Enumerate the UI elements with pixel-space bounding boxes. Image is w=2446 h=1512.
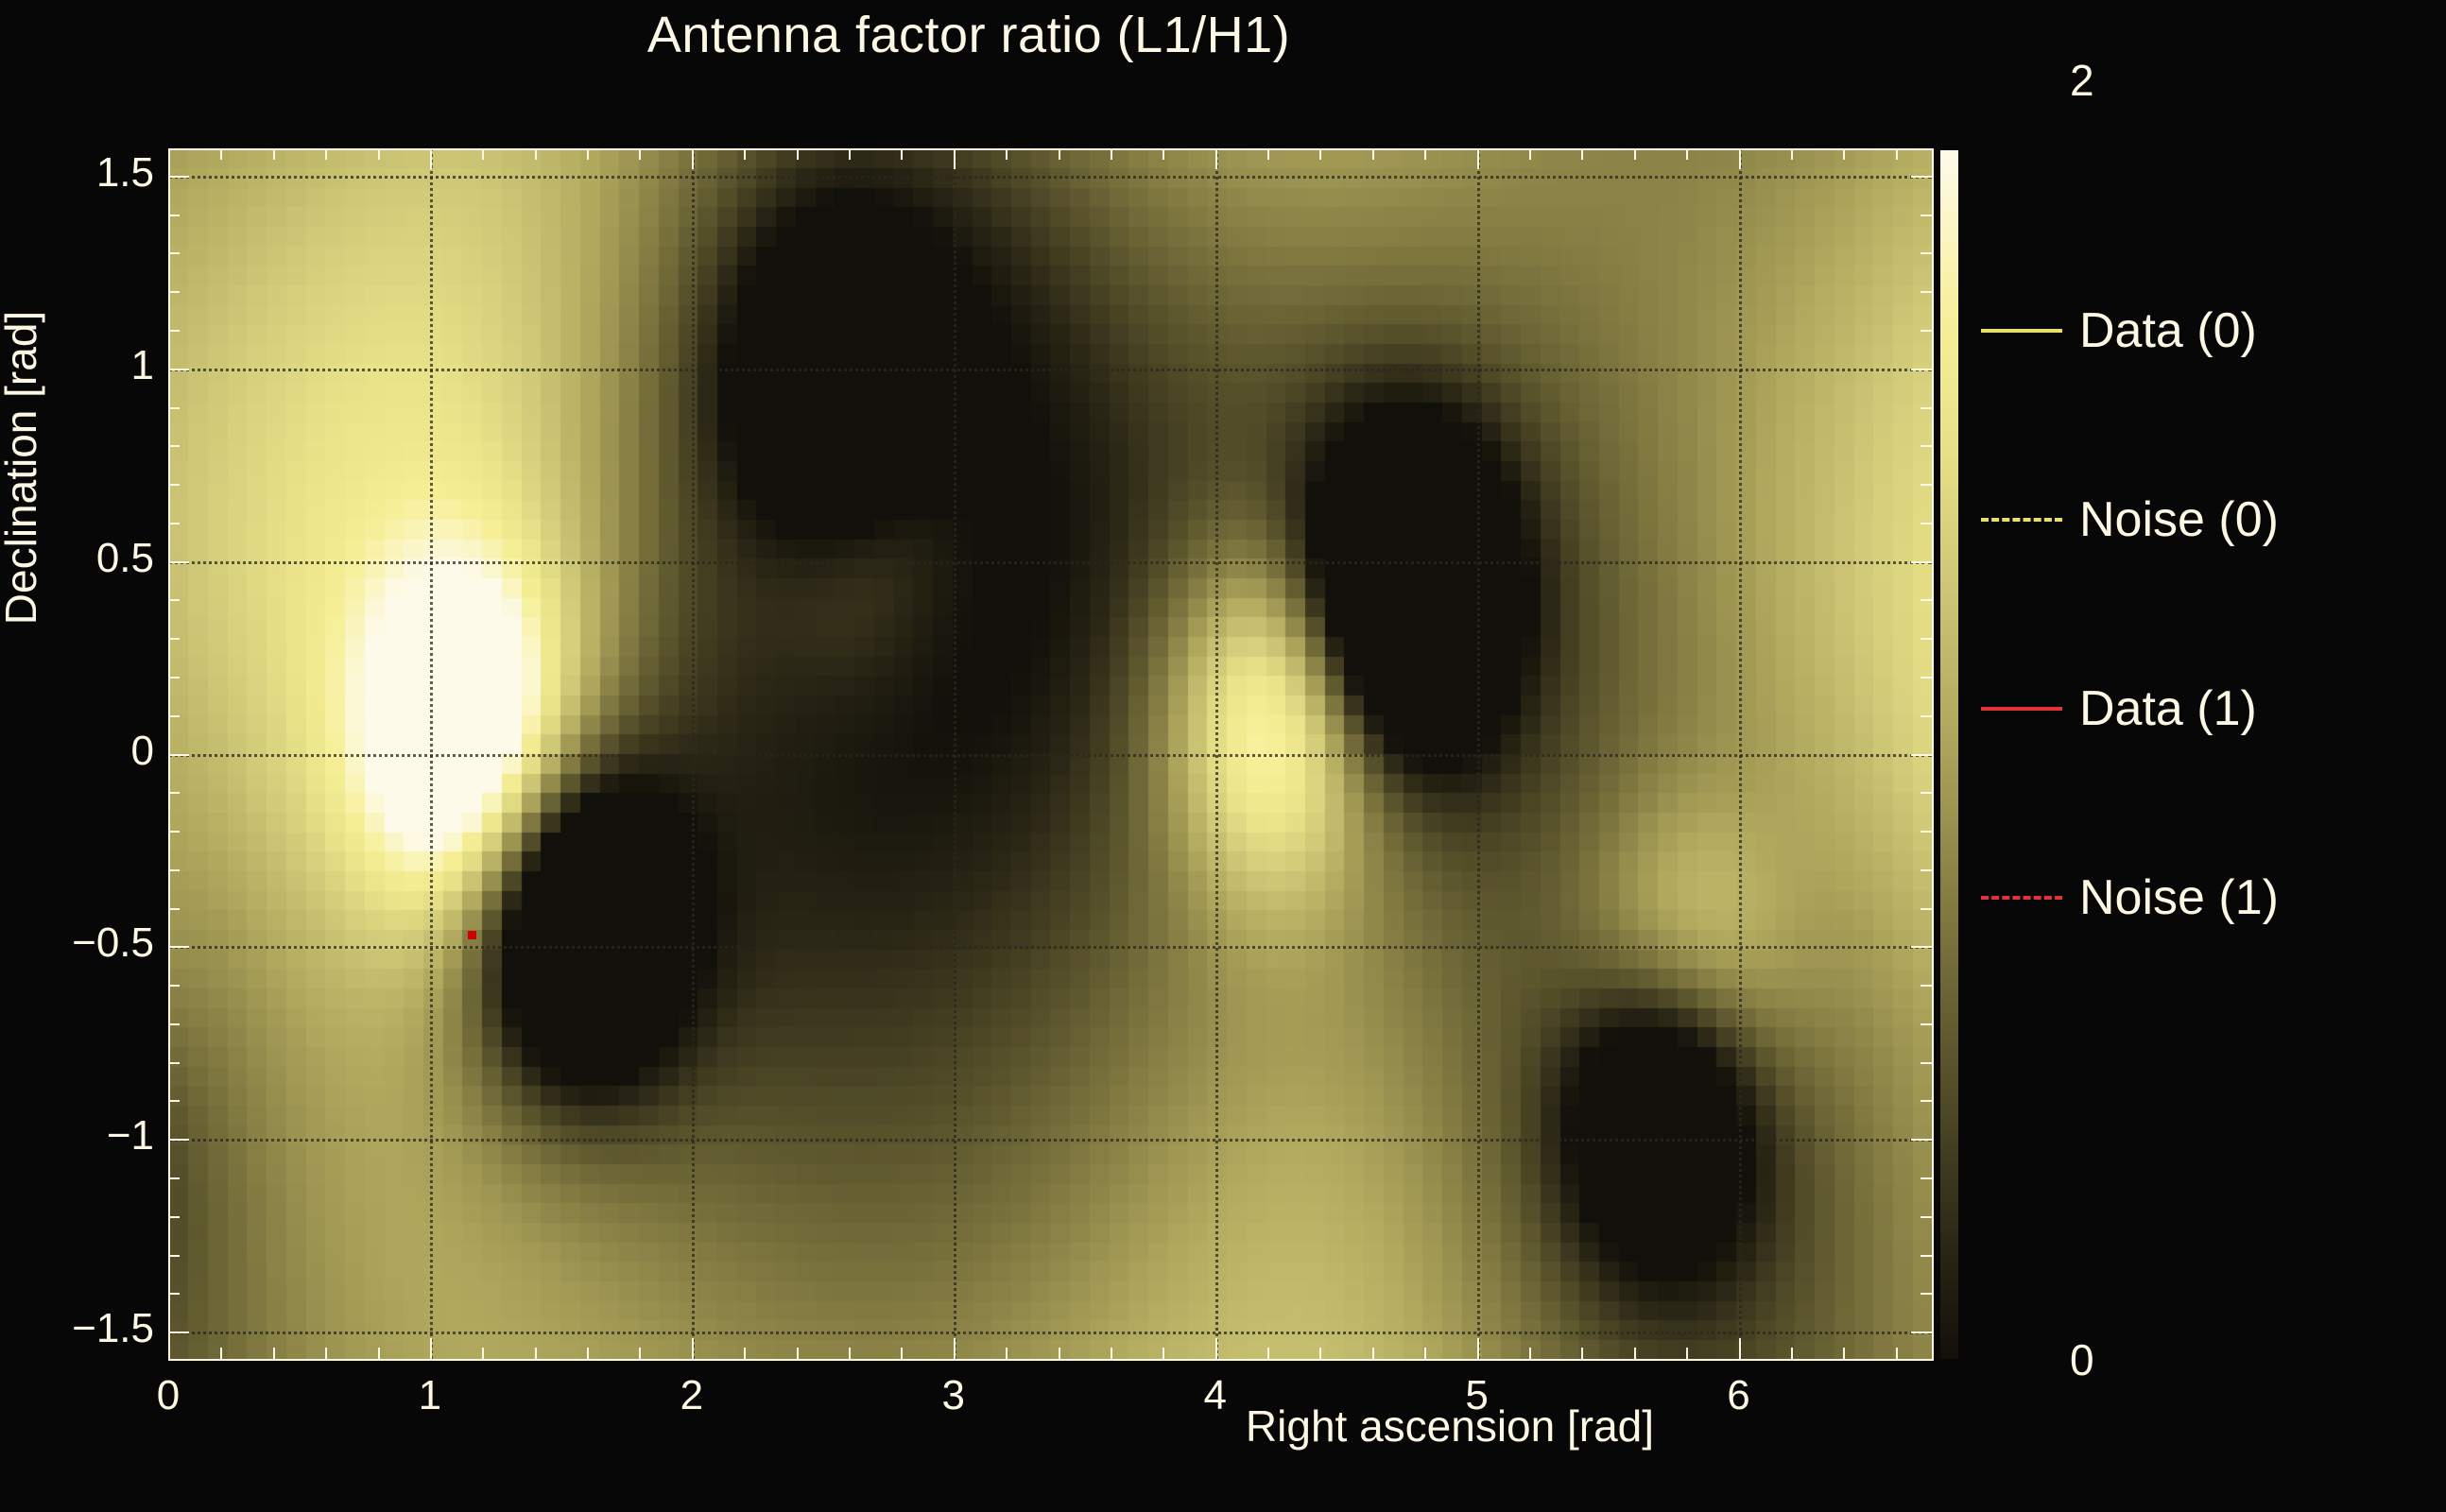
y-tick-minor-right — [1921, 599, 1932, 601]
colorbar-gradient — [1940, 150, 1958, 1359]
y-tick-label: −1 — [0, 1112, 154, 1160]
x-tick-major-top — [430, 148, 432, 169]
y-tick-minor-right — [1921, 523, 1932, 524]
y-tick-major — [168, 1332, 189, 1333]
y-tick-minor-right — [1921, 1255, 1932, 1257]
x-tick-minor-top — [1634, 148, 1636, 160]
x-tick-minor — [1634, 1348, 1636, 1359]
y-tick-minor-right — [1921, 1216, 1932, 1218]
x-tick-minor — [1896, 1348, 1898, 1359]
legend-line-icon — [1981, 896, 2062, 900]
y-tick-major — [168, 754, 189, 756]
x-tick-minor — [639, 1348, 641, 1359]
x-tick-minor-top — [378, 148, 380, 160]
y-tick-minor-right — [1921, 677, 1932, 679]
x-tick-minor-top — [220, 148, 222, 160]
x-tick-minor-top — [587, 148, 589, 160]
colorbar-top-label: 2 — [2070, 55, 2094, 106]
x-tick-minor-top — [1006, 148, 1008, 160]
x-tick-minor — [1163, 1348, 1164, 1359]
x-tick-label: 0 — [112, 1372, 225, 1419]
y-tick-major — [168, 1139, 189, 1141]
x-tick-minor — [1529, 1348, 1531, 1359]
y-tick-major — [168, 176, 189, 178]
y-tick-minor — [168, 599, 180, 601]
legend-label: Data (0) — [2079, 306, 2257, 355]
page-title: Antenna factor ratio (L1/H1) — [0, 6, 1938, 64]
y-tick-minor-right — [1921, 445, 1932, 447]
y-tick-minor — [168, 1177, 180, 1179]
x-tick-minor — [1059, 1348, 1060, 1359]
y-tick-minor — [168, 638, 180, 640]
y-tick-minor-right — [1921, 1100, 1932, 1102]
y-tick-major-right — [1911, 1139, 1932, 1141]
y-tick-label: 0 — [0, 728, 154, 775]
y-tick-minor — [168, 985, 180, 987]
x-tick-major-top — [692, 148, 694, 169]
plot-canvas: Antenna factor ratio (L1/H1) 01234561.51… — [0, 0, 2446, 1512]
y-tick-minor — [168, 484, 180, 486]
y-tick-minor-right — [1921, 252, 1932, 254]
x-tick-major — [692, 1338, 694, 1359]
legend-item[interactable]: Noise (1) — [1981, 869, 2435, 926]
y-axis-label: Declination [rad] — [0, 203, 46, 732]
y-tick-minor-right — [1921, 291, 1932, 293]
y-tick-minor-right — [1921, 638, 1932, 640]
y-tick-label: −1.5 — [0, 1305, 154, 1352]
x-tick-minor-top — [1059, 148, 1060, 160]
y-tick-minor-right — [1921, 869, 1932, 871]
x-tick-minor — [901, 1348, 903, 1359]
y-tick-minor-right — [1921, 1293, 1932, 1295]
x-tick-minor — [1581, 1348, 1583, 1359]
y-tick-minor — [168, 523, 180, 524]
legend-item[interactable]: Data (1) — [1981, 680, 2435, 737]
x-tick-major-top — [168, 148, 170, 169]
x-tick-minor-top — [1267, 148, 1269, 160]
x-tick-minor-top — [482, 148, 484, 160]
y-tick-minor-right — [1921, 484, 1932, 486]
x-tick-minor — [744, 1348, 746, 1359]
legend-line-icon — [1981, 707, 2062, 711]
x-tick-minor-top — [849, 148, 851, 160]
x-tick-minor-top — [1319, 148, 1321, 160]
legend-label: Data (1) — [2079, 684, 2257, 733]
y-tick-major-right — [1911, 1332, 1932, 1333]
x-tick-major — [954, 1338, 956, 1359]
legend: Data (0)Noise (0)Data (1)Noise (1) — [1981, 151, 2435, 1361]
axis-bottom — [168, 1359, 1934, 1361]
y-tick-minor-right — [1921, 1062, 1932, 1064]
y-tick-minor — [168, 792, 180, 794]
y-tick-minor-right — [1921, 407, 1932, 409]
x-tick-minor — [1319, 1348, 1321, 1359]
x-tick-minor-top — [1111, 148, 1112, 160]
y-tick-minor — [168, 869, 180, 871]
x-tick-minor — [1791, 1348, 1793, 1359]
x-tick-minor-top — [1163, 148, 1164, 160]
x-tick-minor — [325, 1348, 327, 1359]
y-tick-minor-right — [1921, 831, 1932, 833]
x-tick-minor — [797, 1348, 799, 1359]
y-tick-minor-right — [1921, 1023, 1932, 1025]
x-tick-minor-top — [639, 148, 641, 160]
y-tick-major — [168, 946, 189, 948]
y-tick-minor-right — [1921, 908, 1932, 910]
x-tick-minor-top — [273, 148, 275, 160]
y-tick-minor-right — [1921, 985, 1932, 987]
y-tick-minor — [168, 445, 180, 447]
x-tick-minor — [1111, 1348, 1112, 1359]
y-tick-minor-right — [1921, 215, 1932, 216]
y-tick-major-right — [1911, 176, 1932, 178]
x-tick-label: 2 — [635, 1372, 749, 1419]
y-tick-major-right — [1911, 754, 1932, 756]
y-tick-minor-right — [1921, 330, 1932, 332]
x-tick-major — [1477, 1338, 1479, 1359]
heatmap-image — [168, 148, 1932, 1359]
x-tick-major — [430, 1338, 432, 1359]
y-tick-major — [168, 561, 189, 563]
x-tick-minor-top — [325, 148, 327, 160]
x-tick-minor — [1372, 1348, 1374, 1359]
y-tick-minor — [168, 1255, 180, 1257]
x-tick-minor-top — [1581, 148, 1583, 160]
colorbar — [1940, 150, 1958, 1359]
axis-right — [1932, 148, 1934, 1361]
x-tick-major — [1215, 1338, 1217, 1359]
y-tick-label: −0.5 — [0, 919, 154, 967]
x-tick-minor-top — [1843, 148, 1845, 160]
y-tick-minor — [168, 1062, 180, 1064]
legend-line-icon — [1981, 329, 2062, 333]
y-tick-minor — [168, 330, 180, 332]
y-tick-minor — [168, 407, 180, 409]
y-tick-minor — [168, 677, 180, 679]
x-tick-minor — [587, 1348, 589, 1359]
y-tick-major-right — [1911, 369, 1932, 370]
legend-label: Noise (1) — [2079, 873, 2279, 922]
x-tick-major-top — [1477, 148, 1479, 169]
x-tick-major-top — [954, 148, 956, 169]
legend-line-icon — [1981, 518, 2062, 522]
axis-top — [168, 148, 1934, 150]
x-axis-label: Right ascension [rad] — [1176, 1400, 1724, 1452]
x-tick-minor-top — [1372, 148, 1374, 160]
x-tick-minor-top — [901, 148, 903, 160]
x-tick-major — [1739, 1338, 1741, 1359]
x-tick-minor — [482, 1348, 484, 1359]
x-tick-minor-top — [797, 148, 799, 160]
x-tick-major-top — [1739, 148, 1741, 169]
x-tick-minor-top — [535, 148, 537, 160]
x-tick-minor-top — [1686, 148, 1688, 160]
y-tick-minor — [168, 252, 180, 254]
x-tick-minor-top — [1791, 148, 1793, 160]
y-tick-minor — [168, 715, 180, 717]
y-tick-minor — [168, 908, 180, 910]
y-tick-minor-right — [1921, 1177, 1932, 1179]
legend-label: Noise (0) — [2079, 495, 2279, 544]
y-tick-label: 1.5 — [0, 149, 154, 197]
x-tick-major-top — [1215, 148, 1217, 169]
y-tick-major — [168, 369, 189, 370]
y-tick-minor — [168, 1100, 180, 1102]
x-tick-minor-top — [1529, 148, 1531, 160]
x-tick-minor — [535, 1348, 537, 1359]
y-tick-major-right — [1911, 946, 1932, 948]
y-tick-minor — [168, 1293, 180, 1295]
x-tick-minor-top — [1896, 148, 1898, 160]
y-tick-minor — [168, 291, 180, 293]
x-tick-minor-top — [744, 148, 746, 160]
x-tick-label: 1 — [373, 1372, 487, 1419]
x-tick-minor — [849, 1348, 851, 1359]
x-tick-minor-top — [1424, 148, 1426, 160]
x-tick-minor — [220, 1348, 222, 1359]
x-tick-minor — [378, 1348, 380, 1359]
y-tick-minor — [168, 215, 180, 216]
y-tick-minor — [168, 831, 180, 833]
x-tick-major — [168, 1338, 170, 1359]
y-tick-minor — [168, 1023, 180, 1025]
y-tick-major-right — [1911, 561, 1932, 563]
x-tick-minor — [273, 1348, 275, 1359]
x-tick-label: 3 — [897, 1372, 1010, 1419]
legend-item[interactable]: Data (0) — [1981, 302, 2435, 359]
x-tick-minor — [1267, 1348, 1269, 1359]
y-tick-minor-right — [1921, 792, 1932, 794]
y-tick-minor-right — [1921, 715, 1932, 717]
heatmap-plot-area — [168, 148, 1932, 1359]
x-tick-minor — [1843, 1348, 1845, 1359]
legend-item[interactable]: Noise (0) — [1981, 491, 2435, 548]
x-tick-minor — [1006, 1348, 1008, 1359]
y-tick-minor — [168, 1216, 180, 1218]
x-tick-minor — [1686, 1348, 1688, 1359]
x-tick-minor — [1424, 1348, 1426, 1359]
